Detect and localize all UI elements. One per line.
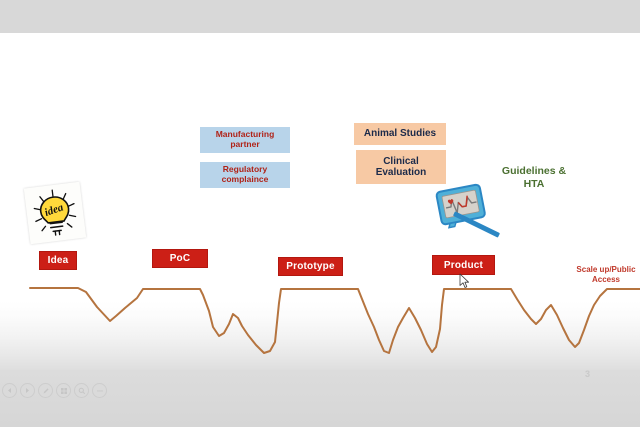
milestone-prototype-label: Prototype	[286, 261, 334, 272]
slide-canvas: idea Manufacturing partner Regulatory co…	[0, 33, 640, 370]
mouse-cursor	[459, 273, 470, 289]
milestone-product-label: Product	[444, 260, 483, 271]
bottom-chrome-band	[0, 370, 640, 427]
presentation-toolbar[interactable]	[2, 383, 107, 398]
top-chrome-band	[0, 0, 640, 33]
pen-icon[interactable]	[38, 383, 53, 398]
callout-regulatory-compliance-label: Regulatory complaince	[222, 165, 269, 185]
callout-clinical-evaluation: Clinical Evaluation	[356, 150, 446, 184]
presentation-window: idea Manufacturing partner Regulatory co…	[0, 0, 640, 427]
previous-slide-icon[interactable]	[2, 383, 17, 398]
zoom-icon[interactable]	[74, 383, 89, 398]
all-slides-icon[interactable]	[56, 383, 71, 398]
milestone-idea-label: Idea	[48, 255, 69, 266]
milestone-prototype[interactable]: Prototype	[278, 257, 343, 276]
next-slide-icon[interactable]	[20, 383, 35, 398]
milestone-poc-label: PoC	[170, 253, 191, 264]
milestone-product[interactable]: Product	[432, 255, 495, 275]
more-options-icon[interactable]	[92, 383, 107, 398]
idea-note: idea	[24, 182, 86, 244]
callout-animal-studies: Animal Studies	[354, 123, 446, 145]
lightbulb-icon: idea	[24, 182, 86, 244]
milestone-idea[interactable]: Idea	[39, 251, 77, 270]
milestone-poc[interactable]: PoC	[152, 249, 208, 268]
callout-guidelines-hta-label: Guidelines & HTA	[502, 165, 566, 190]
callout-manufacturing-partner-label: Manufacturing partner	[216, 130, 275, 150]
milestone-scale-up: Scale up/Public Access	[567, 255, 640, 285]
callout-clinical-evaluation-label: Clinical Evaluation	[376, 156, 427, 179]
page-number: 3	[585, 369, 590, 379]
callout-manufacturing-partner: Manufacturing partner	[200, 127, 290, 153]
callout-regulatory-compliance: Regulatory complaince	[200, 162, 290, 188]
callout-guidelines-hta: Guidelines & HTA	[489, 152, 579, 191]
development-journey-waveform	[0, 66, 640, 370]
milestone-scale-up-label: Scale up/Public Access	[576, 265, 635, 284]
callout-animal-studies-label: Animal Studies	[364, 128, 436, 140]
